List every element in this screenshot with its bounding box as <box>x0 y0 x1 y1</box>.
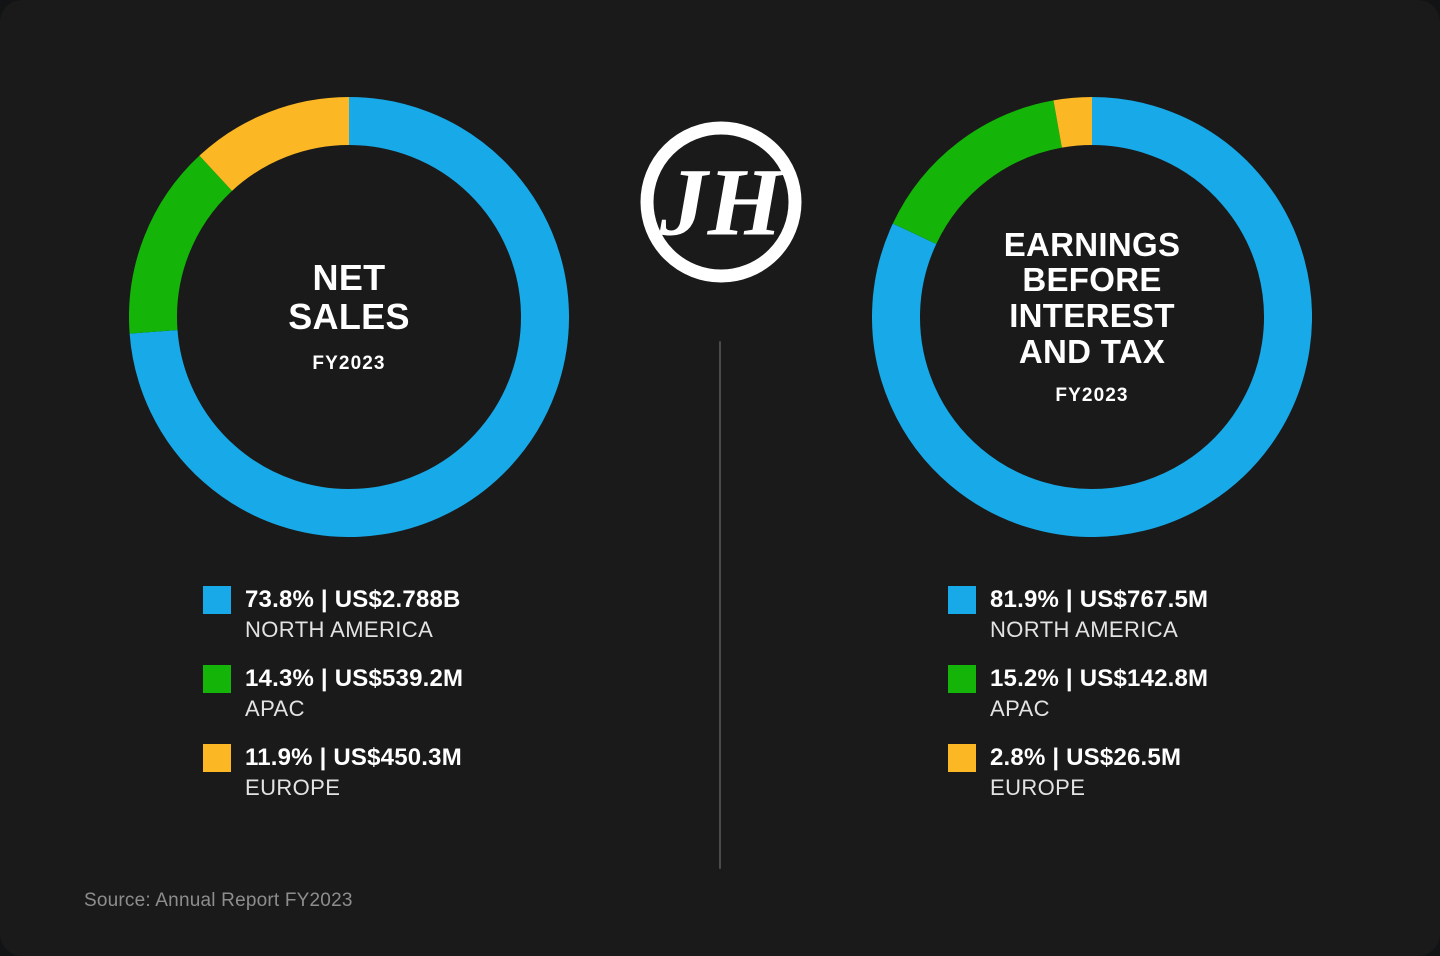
legend-swatch-north-america <box>203 586 231 614</box>
legend-swatch-apac <box>948 665 976 693</box>
donut-segment-europe[interactable] <box>216 121 349 173</box>
donut-segment-apac[interactable] <box>153 173 216 331</box>
ebit-legend: 81.9% | US$767.5M NORTH AMERICA 15.2% | … <box>948 586 1208 823</box>
legend-value: 14.3% | US$539.2M <box>245 665 463 693</box>
infographic-card: NET SALES FY2023 73.8% | US$2.788B NORTH… <box>0 0 1440 956</box>
legend-item[interactable]: 14.3% | US$539.2M APAC <box>203 665 463 722</box>
legend-label: NORTH AMERICA <box>990 617 1208 643</box>
legend-swatch-apac <box>203 665 231 693</box>
legend-swatch-north-america <box>948 586 976 614</box>
legend-item[interactable]: 11.9% | US$450.3M EUROPE <box>203 744 463 801</box>
net-sales-legend: 73.8% | US$2.788B NORTH AMERICA 14.3% | … <box>203 586 463 823</box>
ebit-donut: EARNINGS BEFORE INTEREST AND TAX FY2023 <box>872 97 1312 537</box>
donut-segments <box>896 121 1288 513</box>
net-sales-donut: NET SALES FY2023 <box>129 97 569 537</box>
vertical-divider <box>719 341 721 869</box>
donut-segment-europe[interactable] <box>1058 121 1092 124</box>
ebit-donut-svg <box>872 97 1312 537</box>
legend-value: 15.2% | US$142.8M <box>990 665 1208 693</box>
legend-swatch-europe <box>203 744 231 772</box>
donut-segment-apac[interactable] <box>915 124 1058 234</box>
legend-value: 2.8% | US$26.5M <box>990 744 1181 772</box>
legend-label: APAC <box>990 696 1208 722</box>
legend-label: EUROPE <box>990 775 1208 801</box>
net-sales-panel: NET SALES FY2023 73.8% | US$2.788B NORTH… <box>0 0 720 956</box>
legend-label: NORTH AMERICA <box>245 617 463 643</box>
ebit-panel: EARNINGS BEFORE INTEREST AND TAX FY2023 … <box>720 0 1440 956</box>
source-note: Source: Annual Report FY2023 <box>84 890 353 912</box>
donut-segments <box>153 121 545 513</box>
legend-label: APAC <box>245 696 463 722</box>
legend-value: 11.9% | US$450.3M <box>245 744 462 772</box>
net-sales-donut-svg <box>129 97 569 537</box>
jh-logo: JH <box>637 118 805 286</box>
jh-logo-icon: JH <box>637 118 805 286</box>
legend-item[interactable]: 2.8% | US$26.5M EUROPE <box>948 744 1208 801</box>
legend-value: 73.8% | US$2.788B <box>245 586 461 614</box>
legend-item[interactable]: 81.9% | US$767.5M NORTH AMERICA <box>948 586 1208 643</box>
legend-label: EUROPE <box>245 775 463 801</box>
legend-item[interactable]: 15.2% | US$142.8M APAC <box>948 665 1208 722</box>
legend-value: 81.9% | US$767.5M <box>990 586 1208 614</box>
legend-swatch-europe <box>948 744 976 772</box>
logo-monogram: JH <box>659 149 786 256</box>
legend-item[interactable]: 73.8% | US$2.788B NORTH AMERICA <box>203 586 463 643</box>
